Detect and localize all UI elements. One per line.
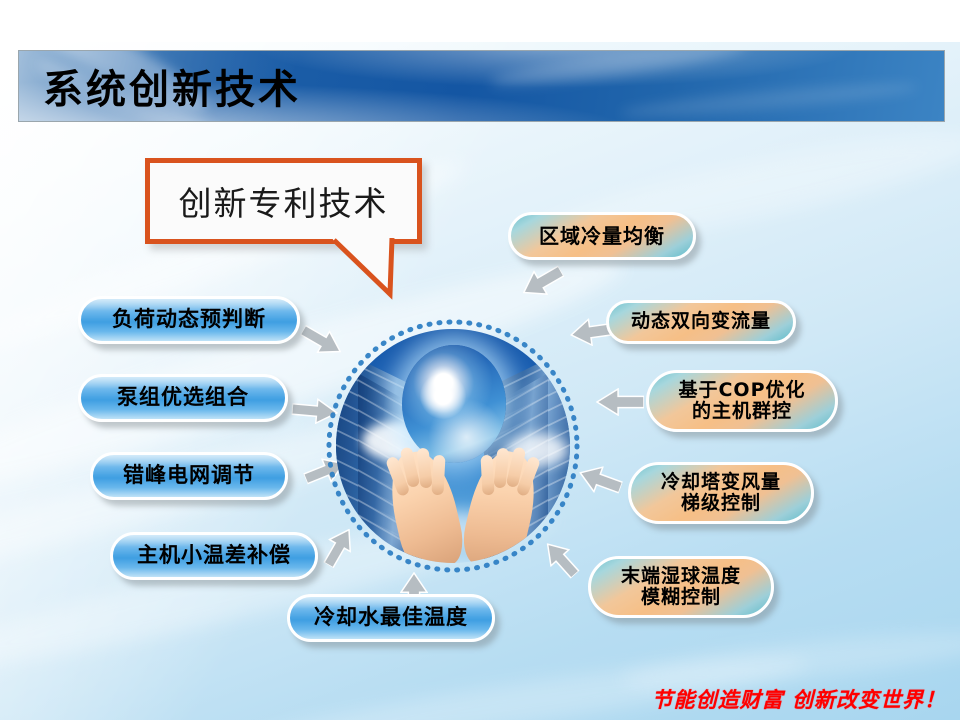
- right-pill-3-label: 基于COP优化 的主机群控: [678, 380, 805, 423]
- right-pill-1[interactable]: 区域冷量均衡: [508, 212, 696, 260]
- right-pill-5[interactable]: 末端湿球温度 模糊控制: [588, 556, 774, 618]
- footer-slogan: 节能创造财富 创新改变世界！: [652, 684, 946, 714]
- title-bar: 系统创新技术: [18, 50, 945, 122]
- left-pill-4[interactable]: 主机小温差补偿: [110, 532, 318, 580]
- center-graphic: [322, 315, 584, 577]
- title-cloud-wisp: [619, 78, 919, 122]
- left-pill-3-label: 错峰电网调节: [123, 464, 255, 488]
- right-pill-2[interactable]: 动态双向变流量: [606, 300, 796, 344]
- left-pill-1-label: 负荷动态预判断: [112, 308, 266, 332]
- title-cloud-wisp: [489, 50, 750, 93]
- left-pill-2-label: 泵组优选组合: [117, 386, 249, 410]
- left-pill-3[interactable]: 错峰电网调节: [90, 452, 288, 500]
- right-pill-1-label: 区域冷量均衡: [539, 225, 665, 247]
- arrow-in-right-mid-icon: [596, 388, 644, 416]
- globe-flare-icon: [420, 373, 466, 419]
- right-pill-5-label: 末端湿球温度 模糊控制: [621, 566, 741, 609]
- page-title: 系统创新技术: [43, 57, 301, 115]
- center-circle-image: [336, 329, 570, 563]
- left-pill-2[interactable]: 泵组优选组合: [78, 374, 288, 422]
- right-pill-3[interactable]: 基于COP优化 的主机群控: [646, 370, 838, 432]
- right-pill-4[interactable]: 冷却塔变风量 梯级控制: [628, 462, 814, 524]
- callout-label: 创新专利技术: [150, 177, 417, 225]
- right-pill-2-label: 动态双向变流量: [631, 311, 771, 332]
- slide-root: 系统创新技术 创新专利技术: [0, 0, 960, 720]
- left-pill-5-label: 冷却水最佳温度: [314, 606, 468, 630]
- right-pill-4-label: 冷却塔变风量 梯级控制: [661, 472, 781, 515]
- callout-box: 创新专利技术: [145, 158, 422, 244]
- left-pill-4-label: 主机小温差补偿: [137, 544, 291, 568]
- left-pill-1[interactable]: 负荷动态预判断: [78, 296, 300, 344]
- left-pill-5[interactable]: 冷却水最佳温度: [287, 594, 495, 642]
